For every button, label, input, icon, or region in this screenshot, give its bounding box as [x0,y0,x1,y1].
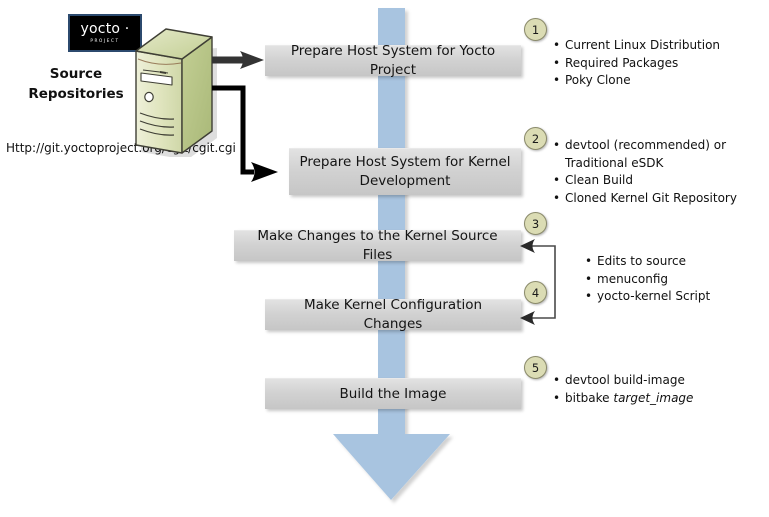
list-item-emphasis: target_image [613,391,693,405]
list-item: Edits to source [585,253,765,271]
list-item: Cloned Kernel Git Repository [553,190,765,208]
list-item: bitbake target_image [553,390,763,408]
step-number-badge-1: 1 [524,18,547,41]
process-box-make-config-changes[interactable]: Make Kernel Configuration Changes [265,299,521,330]
list-item: devtool (recommended) or Traditional eSD… [553,137,765,172]
process-box-label: Prepare Host System for Yocto Project [273,42,513,80]
list-item: menuconfig [585,271,765,289]
step-5-bullet-list: devtool build-imagebitbake target_image [553,372,763,407]
list-item: Poky Clone [553,72,763,90]
process-box-prepare-host-yocto[interactable]: Prepare Host System for Yocto Project [265,45,521,76]
step-2-bullet-list: devtool (recommended) or Traditional eSD… [553,137,765,207]
step-number: 3 [532,217,539,231]
step-number-badge-4: 4 [524,281,547,304]
bullet-items: Current Linux DistributionRequired Packa… [553,37,763,90]
step-number: 5 [532,361,539,375]
bullet-items: devtool (recommended) or Traditional eSD… [553,137,765,207]
step-number: 1 [532,23,539,37]
process-box-prepare-host-kernel[interactable]: Prepare Host System for Kernel Developme… [289,148,521,195]
process-box-make-source-changes[interactable]: Make Changes to the Kernel Source Files [234,230,521,261]
list-item: devtool build-image [553,372,763,390]
process-box-label: Make Changes to the Kernel Source Files [242,227,513,265]
list-item: Current Linux Distribution [553,37,763,55]
steps-3-4-bullet-list: Edits to sourcemenuconfigyocto-kernel Sc… [585,253,765,306]
bullet-items: Edits to sourcemenuconfigyocto-kernel Sc… [585,253,765,306]
step-number: 2 [532,132,539,146]
step-number-badge-5: 5 [524,356,547,379]
step-number-badge-2: 2 [524,127,547,150]
process-box-label: Build the Image [340,385,447,404]
list-item: Required Packages [553,55,763,73]
list-item: yocto-kernel Script [585,288,765,306]
process-box-build-image[interactable]: Build the Image [265,378,521,409]
list-item: Clean Build [553,172,765,190]
process-box-label: Make Kernel Configuration Changes [273,296,513,334]
bullet-items: devtool build-imagebitbake target_image [553,372,763,407]
step-number: 4 [532,286,539,300]
process-box-label: Prepare Host System for Kernel Developme… [297,153,513,191]
step-number-badge-3: 3 [524,212,547,235]
step-1-bullet-list: Current Linux DistributionRequired Packa… [553,37,763,90]
diagram-canvas: yocto · PROJECT Source Repositories Http… [0,0,769,517]
